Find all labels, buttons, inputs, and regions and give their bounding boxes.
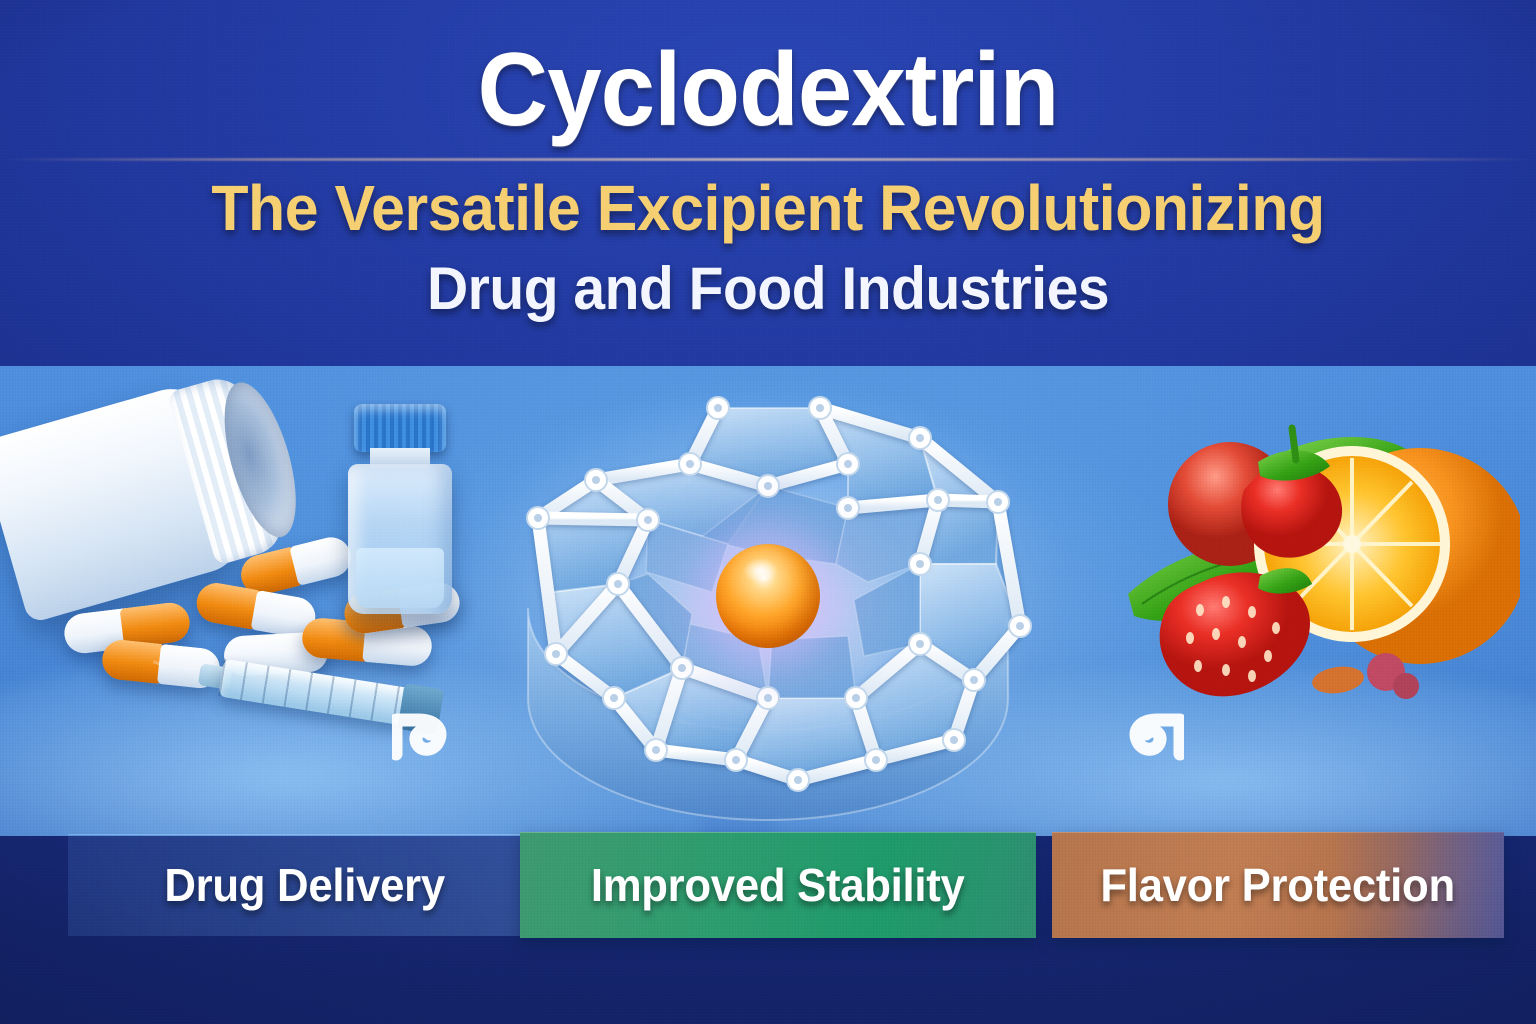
page-title: Cyclodextrin [46, 38, 1490, 142]
vial-liquid [356, 548, 444, 608]
label-flavor-protection[interactable]: Flavor Protection [1052, 832, 1504, 938]
label-text: Flavor Protection [1101, 858, 1456, 912]
feature-labels: Drug Delivery Improved Stability Flavor … [0, 832, 1536, 944]
vial-icon [344, 404, 454, 614]
syringe-graduations [218, 659, 412, 726]
cyclodextrin-molecule [468, 368, 1068, 838]
label-improved-stability[interactable]: Improved Stability [520, 832, 1036, 938]
vial-cap [354, 404, 446, 452]
pharmaceutical-scene [44, 376, 514, 806]
label-text: Drug Delivery [165, 858, 445, 912]
food-flavor-scene [1090, 404, 1520, 734]
infographic-poster: Cyclodextrin The Versatile Excipient Rev… [0, 0, 1536, 1024]
header-divider [0, 158, 1536, 161]
vial-body [348, 464, 452, 614]
syringe-plunger [397, 683, 444, 735]
subtitle-line-2: Drug and Food Industries [38, 258, 1497, 319]
guest-molecule-sphere [716, 544, 820, 648]
capsule-icon [193, 580, 318, 640]
berry-icon [1310, 664, 1365, 697]
label-text: Improved Stability [591, 858, 965, 912]
label-drug-delivery[interactable]: Drug Delivery [88, 832, 522, 938]
berry-icon [1393, 673, 1419, 699]
subtitle-line-1: The Versatile Excipient Revolutionizing [38, 176, 1497, 241]
poster-header: Cyclodextrin The Versatile Excipient Rev… [0, 0, 1536, 366]
syringe-barrel [218, 659, 412, 726]
